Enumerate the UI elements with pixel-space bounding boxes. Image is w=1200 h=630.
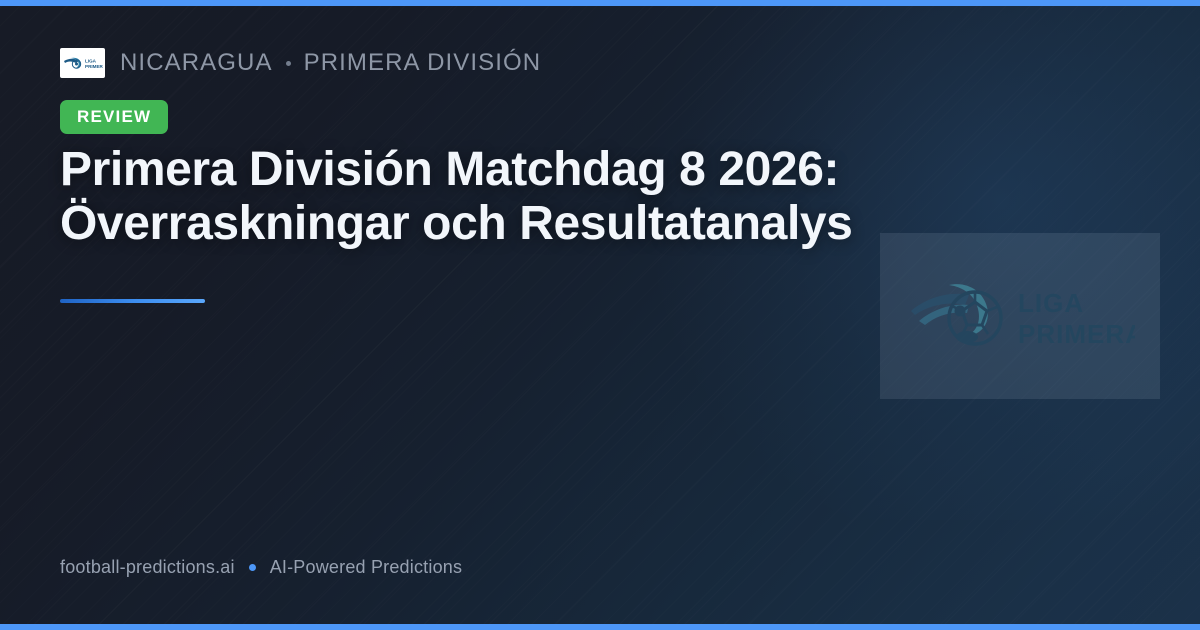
- status-badge: REVIEW: [60, 100, 168, 134]
- breadcrumb-separator-dot: [286, 61, 291, 66]
- breadcrumb-country: NICARAGUA: [120, 49, 273, 77]
- footer-site: football-predictions.ai: [60, 557, 235, 578]
- breadcrumb-league: PRIMERA DIVISIÓN: [304, 49, 542, 77]
- svg-text:LIGA: LIGA: [1018, 288, 1084, 318]
- league-logo-panel: LIGA PRIMERA: [880, 233, 1160, 399]
- page-title: Primera División Matchdag 8 2026: Överra…: [60, 143, 1000, 251]
- title-divider: [60, 299, 205, 303]
- breadcrumb: LIGA PRIMERA NICARAGUA PRIMERA DIVISIÓN: [60, 48, 541, 78]
- og-card: LIGA PRIMERA NICARAGUA PRIMERA DIVISIÓN …: [0, 0, 1200, 630]
- footer: football-predictions.ai AI-Powered Predi…: [60, 557, 462, 578]
- top-accent-bar: [0, 0, 1200, 6]
- svg-text:LIGA: LIGA: [85, 58, 97, 63]
- svg-text:PRIMERA: PRIMERA: [85, 64, 103, 69]
- svg-text:PRIMERA: PRIMERA: [1018, 319, 1135, 349]
- page-title-line-2: Överraskningar och Resultatanalys: [60, 197, 852, 250]
- footer-tagline: AI-Powered Predictions: [270, 557, 463, 578]
- footer-bullet-dot: [249, 564, 256, 571]
- liga-primera-logo-icon: LIGA PRIMERA: [905, 273, 1135, 359]
- badge-row: REVIEW: [60, 100, 168, 134]
- page-title-line-1: Primera División Matchdag 8 2026:: [60, 143, 839, 196]
- liga-primera-chip-logo-icon: LIGA PRIMERA: [60, 48, 105, 78]
- bottom-accent-bar: [0, 624, 1200, 630]
